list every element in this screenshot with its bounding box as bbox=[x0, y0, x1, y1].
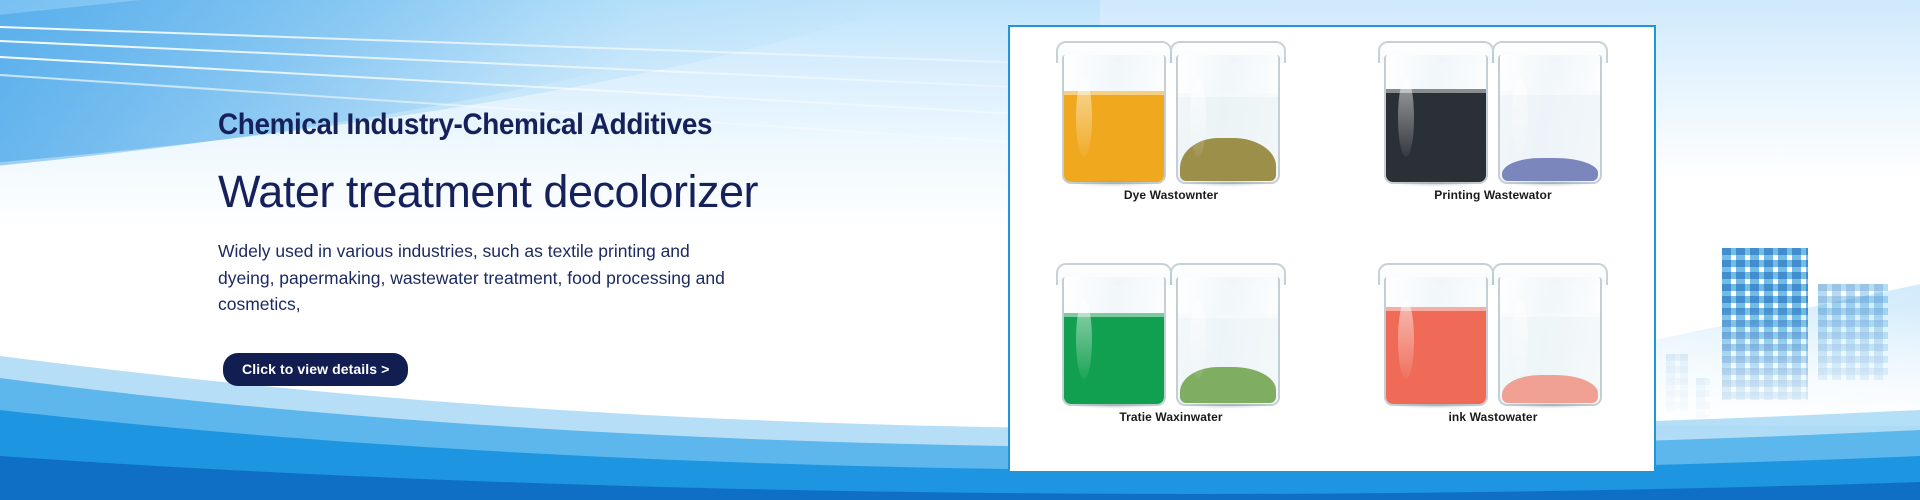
beaker-pair bbox=[1056, 34, 1286, 184]
cell-caption: Tratie Waxinwater bbox=[1119, 410, 1222, 424]
beaker-pair bbox=[1378, 34, 1608, 184]
beaker-glass bbox=[1176, 277, 1280, 406]
showcase-grid: Dye Wastownter bbox=[1010, 27, 1654, 471]
page-title: Water treatment decolorizer bbox=[218, 167, 838, 217]
cell-caption: ink Wastowater bbox=[1449, 410, 1538, 424]
beaker-after bbox=[1498, 263, 1602, 406]
beaker-sediment bbox=[1502, 158, 1598, 181]
building-icon-4 bbox=[1666, 354, 1688, 412]
glass-sheen bbox=[1512, 300, 1528, 379]
cell-caption: Dye Wastownter bbox=[1124, 188, 1218, 202]
beaker-shadow bbox=[1070, 180, 1157, 187]
banner-copy: Chemical Industry-Chemical Additives Wat… bbox=[218, 108, 838, 386]
showcase-cell[interactable]: ink Wastowater bbox=[1332, 249, 1654, 471]
beaker-after bbox=[1176, 41, 1280, 184]
beaker-pair bbox=[1056, 256, 1286, 406]
beaker-shadow bbox=[1184, 180, 1271, 187]
beaker-before bbox=[1062, 263, 1166, 406]
product-showcase-card: Dye Wastownter bbox=[1008, 25, 1656, 473]
beaker-shadow bbox=[1070, 402, 1157, 409]
glass-sheen bbox=[1512, 78, 1528, 157]
eyebrow-title: Chemical Industry-Chemical Additives bbox=[218, 108, 795, 143]
beaker-glass bbox=[1062, 277, 1166, 406]
description-text: Widely used in various industries, such … bbox=[218, 238, 738, 318]
beaker-glass bbox=[1498, 55, 1602, 184]
showcase-cell[interactable]: Printing Wastewator bbox=[1332, 27, 1654, 249]
beaker-shadow bbox=[1506, 180, 1593, 187]
building-icon-2 bbox=[1818, 284, 1888, 380]
beaker-after bbox=[1498, 41, 1602, 184]
beaker-pair bbox=[1378, 256, 1608, 406]
glass-sheen bbox=[1398, 300, 1414, 379]
beaker-glass bbox=[1498, 277, 1602, 406]
beaker-shadow bbox=[1184, 402, 1271, 409]
showcase-cell[interactable]: Dye Wastownter bbox=[1010, 27, 1332, 249]
beaker-before bbox=[1384, 263, 1488, 406]
beaker-shadow bbox=[1392, 402, 1479, 409]
promo-banner: Chemical Industry-Chemical Additives Wat… bbox=[0, 0, 1920, 500]
beaker-glass bbox=[1384, 55, 1488, 184]
beaker-before bbox=[1384, 41, 1488, 184]
beaker-glass bbox=[1176, 55, 1280, 184]
glass-sheen bbox=[1076, 78, 1092, 157]
beaker-glass bbox=[1384, 277, 1488, 406]
beaker-shadow bbox=[1506, 402, 1593, 409]
glass-sheen bbox=[1076, 300, 1092, 379]
glass-sheen bbox=[1190, 300, 1206, 379]
beaker-glass bbox=[1062, 55, 1166, 184]
beaker-before bbox=[1062, 41, 1166, 184]
beaker-shadow bbox=[1392, 180, 1479, 187]
beaker-after bbox=[1176, 263, 1280, 406]
beaker-sediment bbox=[1502, 375, 1598, 403]
building-icon-1 bbox=[1722, 248, 1808, 400]
view-details-button[interactable]: Click to view details > bbox=[223, 353, 408, 386]
glass-sheen bbox=[1398, 78, 1414, 157]
glass-sheen bbox=[1190, 78, 1206, 157]
showcase-cell[interactable]: Tratie Waxinwater bbox=[1010, 249, 1332, 471]
cell-caption: Printing Wastewator bbox=[1434, 188, 1551, 202]
building-icon-5 bbox=[1696, 378, 1710, 418]
